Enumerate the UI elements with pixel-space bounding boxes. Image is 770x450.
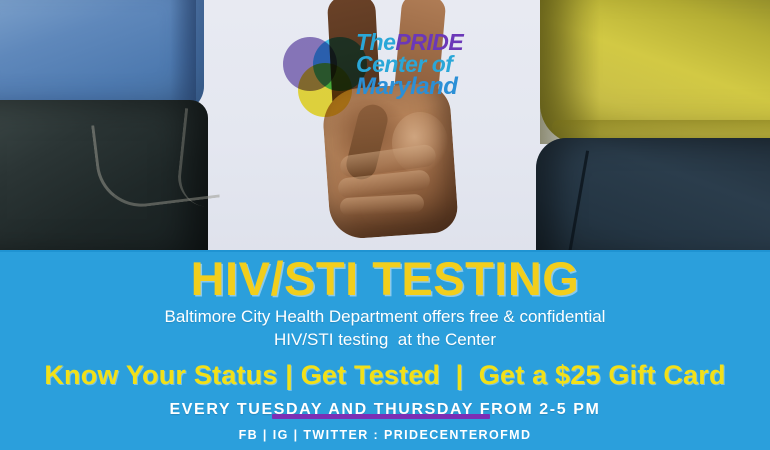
banner-top-edge (0, 250, 770, 252)
logo-line-1: ThePRIDE (356, 31, 506, 53)
purple-divider (272, 414, 490, 419)
headline-title: HIV/STI TESTING (0, 250, 770, 304)
tagline-text: Know Your Status | Get Tested | Get a $2… (0, 360, 770, 391)
jeans-pocket-seam (175, 108, 228, 208)
logo-line-2: Center of (356, 53, 506, 75)
subtitle-line-1: Baltimore City Health Department offers … (0, 306, 770, 329)
logo-line-3: Maryland (356, 75, 506, 98)
info-banner: HIV/STI TESTING Baltimore City Health De… (0, 250, 770, 450)
flyer-poster: ThePRIDE Center of Maryland HIV/STI TEST… (0, 0, 770, 450)
pride-center-logo: ThePRIDE Center of Maryland (283, 33, 501, 121)
subtitle-block: Baltimore City Health Department offers … (0, 306, 770, 352)
social-handles: FB | IG | TWITTER : PRIDECENTEROFMD (0, 428, 770, 442)
logo-circle-yellow (298, 63, 352, 117)
left-person-blue-shirt (0, 0, 204, 112)
logo-venn-circles (283, 33, 367, 117)
hero-photo: ThePRIDE Center of Maryland (0, 0, 770, 252)
subtitle-line-2: HIV/STI testing at the Center (0, 329, 770, 352)
right-person-yellow-shirt (540, 0, 770, 144)
logo-wordmark: ThePRIDE Center of Maryland (356, 31, 506, 98)
